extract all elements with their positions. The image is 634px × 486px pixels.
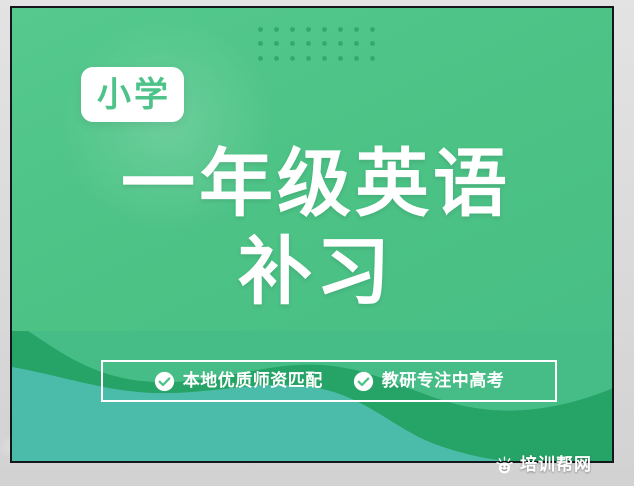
poster-headline: 一年级英语 补习 <box>12 140 614 316</box>
dot <box>290 41 295 46</box>
headline-line-1: 一年级英语 <box>12 140 614 228</box>
sun-face-icon <box>495 456 514 475</box>
category-badge: 小学 <box>81 67 184 122</box>
dot <box>338 56 343 61</box>
watermark-label: 培训帮网 <box>520 457 592 474</box>
dot <box>258 27 263 32</box>
dot-grid-decoration <box>252 22 380 66</box>
headline-line-2: 补习 <box>12 228 614 316</box>
dot <box>354 56 359 61</box>
dot <box>306 27 311 32</box>
page-canvas: 小学 一年级英语 补习 本地优质师资匹配 教研专注中高考 <box>0 0 634 486</box>
dot <box>354 41 359 46</box>
feature-item-2: 教研专注中高考 <box>353 371 505 392</box>
check-circle-icon <box>353 371 374 392</box>
dot <box>370 41 375 46</box>
dot <box>370 27 375 32</box>
dot <box>274 56 279 61</box>
dot <box>290 56 295 61</box>
dot <box>338 27 343 32</box>
dot <box>258 56 263 61</box>
feature-strip: 本地优质师资匹配 教研专注中高考 <box>101 360 557 402</box>
site-watermark: 培训帮网 <box>495 456 592 475</box>
dot <box>322 41 327 46</box>
check-circle-icon <box>154 371 175 392</box>
promo-poster-card: 小学 一年级英语 补习 本地优质师资匹配 教研专注中高考 <box>10 6 614 463</box>
dot <box>290 27 295 32</box>
dot <box>274 27 279 32</box>
dot <box>354 27 359 32</box>
dot <box>322 56 327 61</box>
dot <box>370 56 375 61</box>
dot <box>322 27 327 32</box>
dot <box>258 41 263 46</box>
category-badge-label: 小学 <box>94 78 171 112</box>
feature-item-1: 本地优质师资匹配 <box>154 371 323 392</box>
feature-label-1: 本地优质师资匹配 <box>183 373 323 390</box>
feature-label-2: 教研专注中高考 <box>382 373 505 390</box>
dot <box>306 56 311 61</box>
dot <box>306 41 311 46</box>
dot <box>274 41 279 46</box>
dot <box>338 41 343 46</box>
